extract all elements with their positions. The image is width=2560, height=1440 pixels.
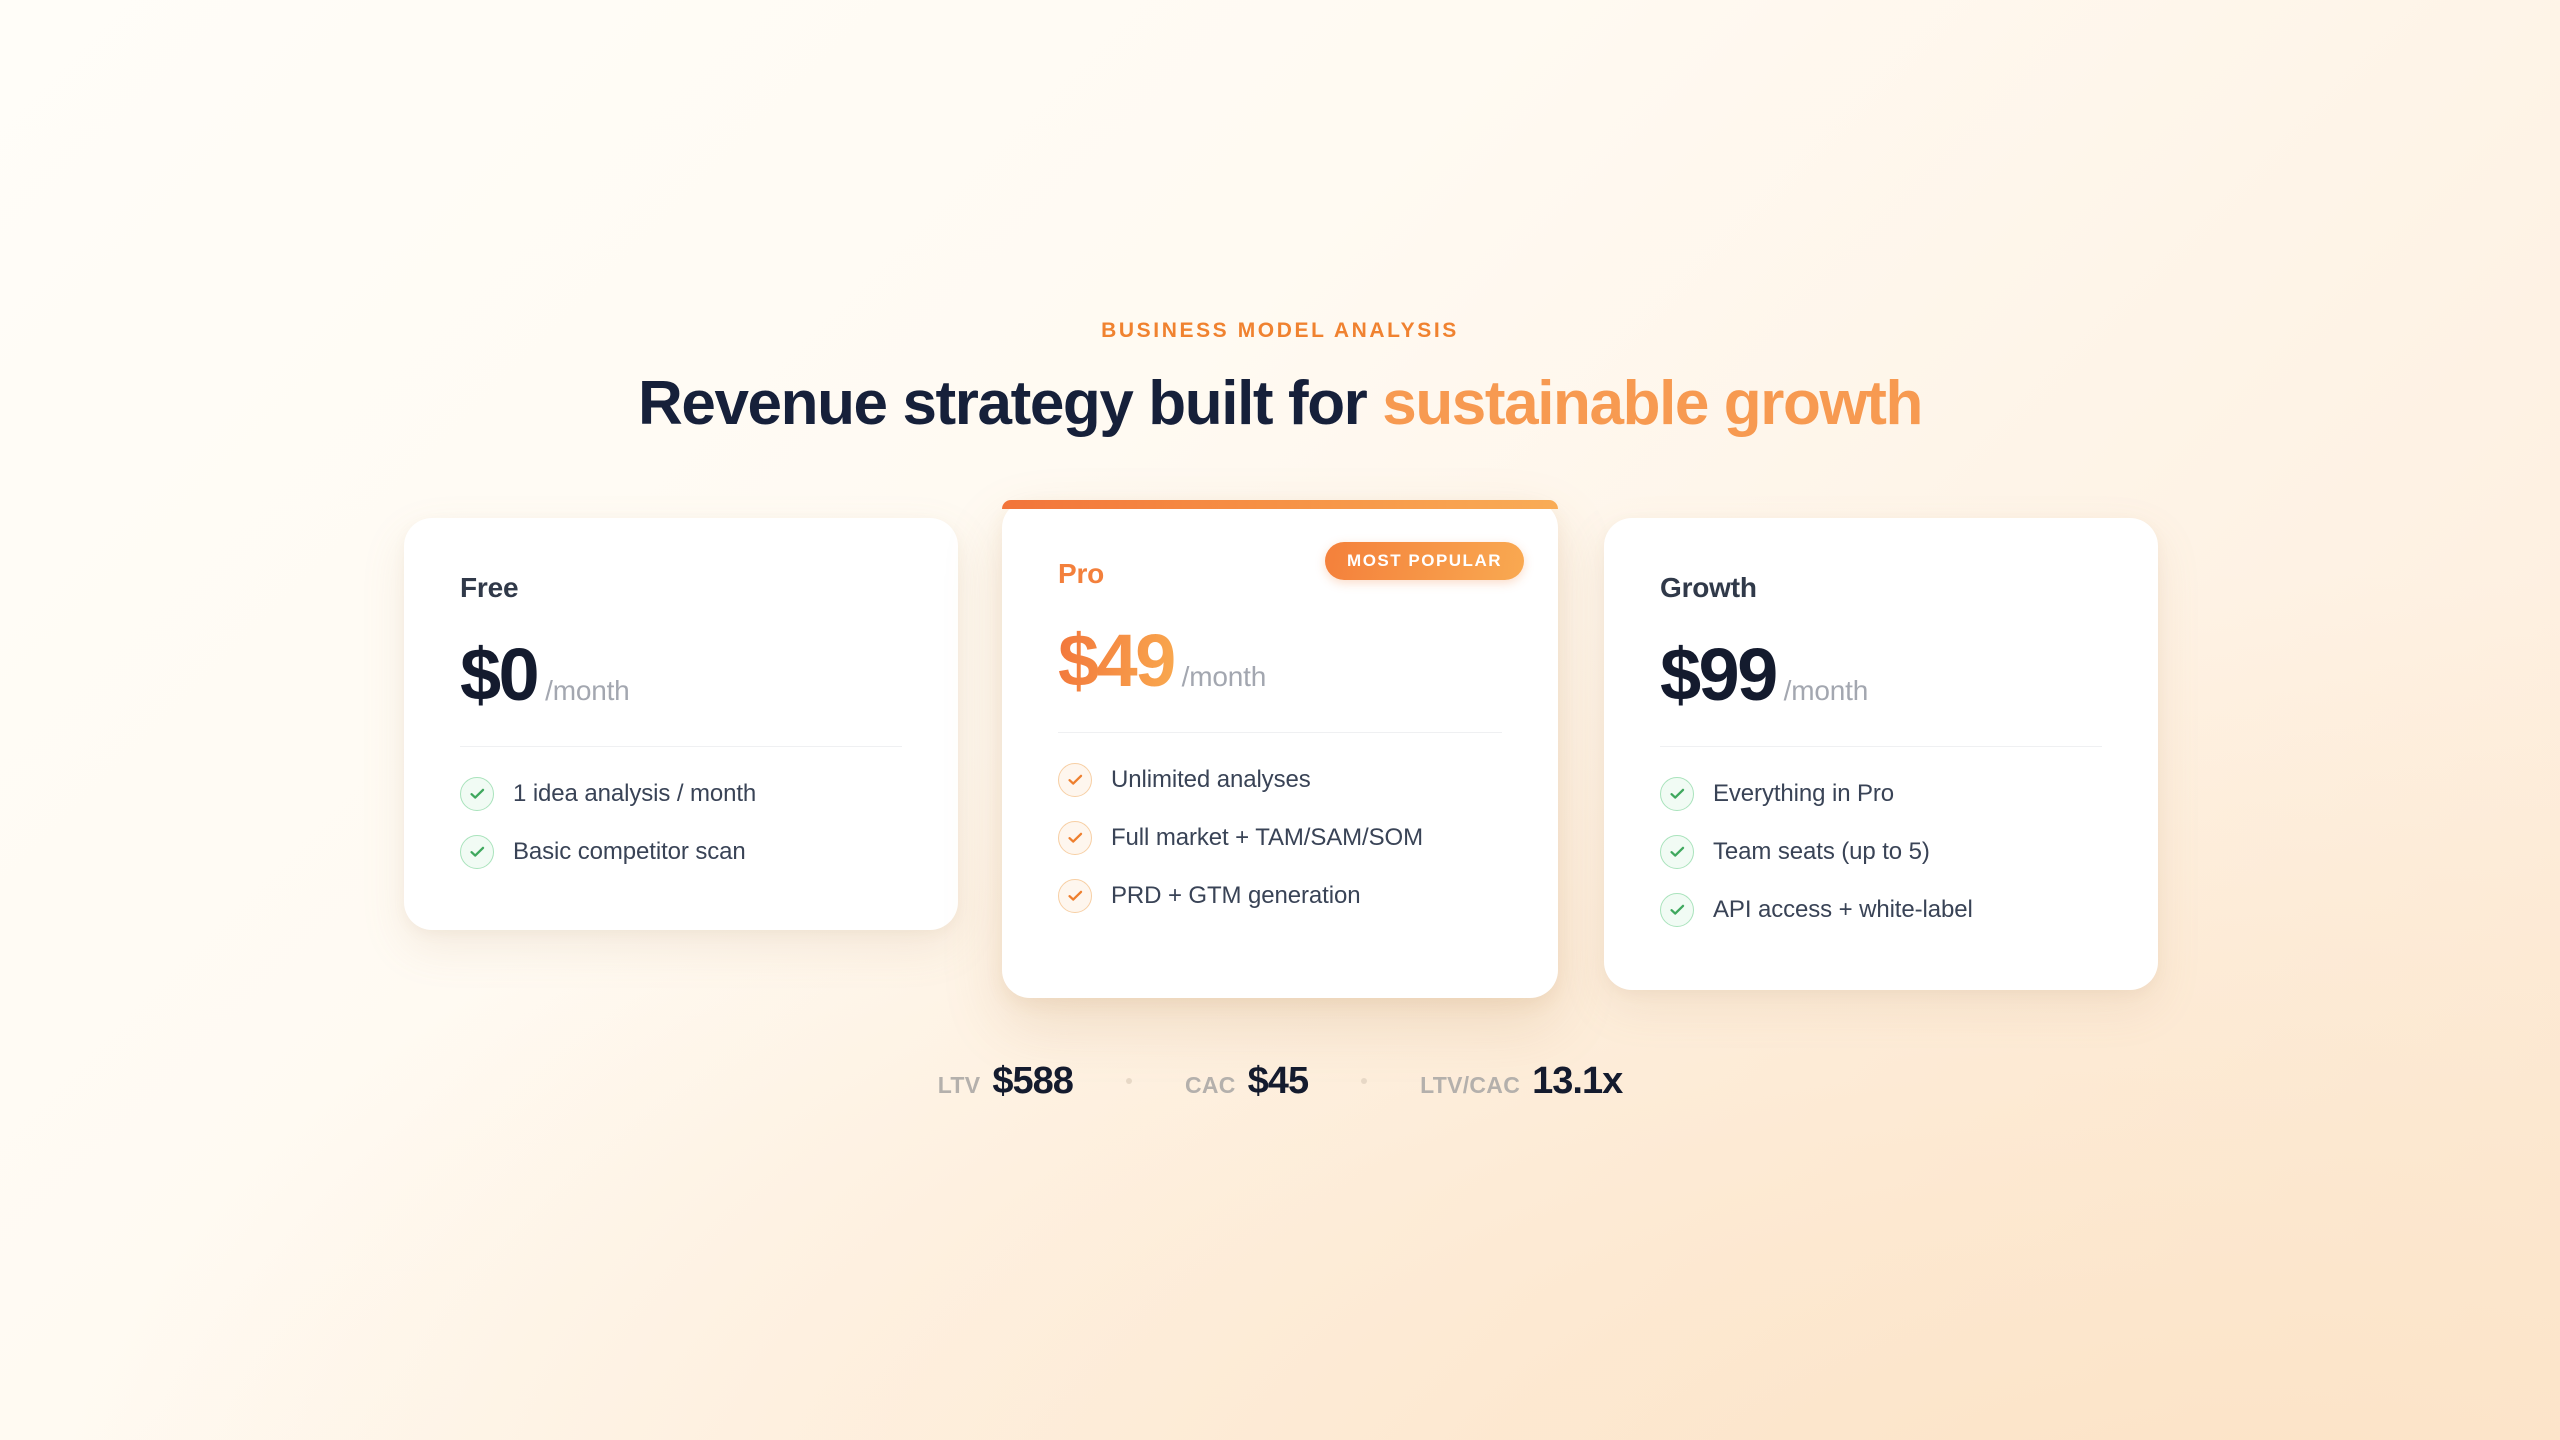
- most-popular-badge: MOST POPULAR: [1325, 542, 1524, 580]
- feature-label: Team seats (up to 5): [1713, 838, 1930, 867]
- section-eyebrow: BUSINESS MODEL ANALYSIS: [0, 320, 2560, 341]
- pricing-card-pro[interactable]: MOST POPULAR Pro $49 /month Unlimited an…: [1002, 500, 1558, 998]
- check-circle-icon: [1660, 835, 1694, 869]
- unit-economics-row: LTV $588 CAC $45 LTV/CAC 13.1x: [0, 1062, 2560, 1100]
- plan-period: /month: [1784, 677, 1868, 705]
- plan-price: $49: [1058, 624, 1174, 698]
- metric-value: $588: [992, 1062, 1073, 1100]
- feature-label: Unlimited analyses: [1111, 766, 1311, 795]
- price-row: $0 /month: [460, 638, 902, 712]
- price-row: $49 /month: [1058, 624, 1502, 698]
- feature-item: Full market + TAM/SAM/SOM: [1058, 821, 1502, 855]
- feature-item: Everything in Pro: [1660, 777, 2102, 811]
- plan-period: /month: [1182, 663, 1266, 691]
- check-circle-icon: [1660, 777, 1694, 811]
- metric-cac: CAC $45: [1185, 1062, 1308, 1100]
- page-title-accent: sustainable growth: [1382, 369, 1922, 438]
- page-title-lead: Revenue strategy built for: [638, 369, 1382, 438]
- feature-list: Unlimited analyses Full market + TAM/SAM…: [1058, 763, 1502, 913]
- feature-label: 1 idea analysis / month: [513, 780, 756, 809]
- metric-value: 13.1x: [1532, 1062, 1622, 1100]
- check-circle-icon: [1660, 893, 1694, 927]
- card-divider: [1660, 746, 2102, 747]
- feature-item: 1 idea analysis / month: [460, 777, 902, 811]
- check-circle-icon: [1058, 879, 1092, 913]
- feature-item: PRD + GTM generation: [1058, 879, 1502, 913]
- check-circle-icon: [460, 835, 494, 869]
- feature-label: PRD + GTM generation: [1111, 882, 1360, 911]
- metric-value: $45: [1248, 1062, 1308, 1100]
- feature-item: Team seats (up to 5): [1660, 835, 2102, 869]
- pricing-cards: Free $0 /month 1 idea analysis / month: [0, 500, 2560, 1020]
- page-title: Revenue strategy built for sustainable g…: [0, 371, 2560, 437]
- feature-item: Basic competitor scan: [460, 835, 902, 869]
- featured-accent-bar: [1002, 500, 1558, 509]
- metric-label: LTV/CAC: [1420, 1074, 1520, 1097]
- check-circle-icon: [460, 777, 494, 811]
- metric-label: CAC: [1185, 1074, 1236, 1097]
- pricing-card-growth[interactable]: Growth $99 /month Everything in Pro Tea: [1604, 518, 2158, 990]
- feature-label: Everything in Pro: [1713, 780, 1894, 809]
- dot-separator-icon: [1361, 1078, 1367, 1084]
- page-header: BUSINESS MODEL ANALYSIS Revenue strategy…: [0, 320, 2560, 478]
- check-circle-icon: [1058, 763, 1092, 797]
- card-divider: [460, 746, 902, 747]
- feature-item: API access + white-label: [1660, 893, 2102, 927]
- plan-name: Free: [460, 574, 902, 602]
- check-circle-icon: [1058, 821, 1092, 855]
- plan-price: $99: [1660, 638, 1776, 712]
- plan-price: $0: [460, 638, 537, 712]
- feature-list: Everything in Pro Team seats (up to 5) A…: [1660, 777, 2102, 927]
- metric-ltv-cac-ratio: LTV/CAC 13.1x: [1420, 1062, 1622, 1100]
- metric-ltv: LTV $588: [938, 1062, 1073, 1100]
- feature-list: 1 idea analysis / month Basic competitor…: [460, 777, 902, 869]
- feature-label: API access + white-label: [1713, 896, 1973, 925]
- card-divider: [1058, 732, 1502, 733]
- price-row: $99 /month: [1660, 638, 2102, 712]
- metric-label: LTV: [938, 1074, 981, 1097]
- plan-name: Growth: [1660, 574, 2102, 602]
- plan-period: /month: [545, 677, 629, 705]
- dot-separator-icon: [1126, 1078, 1132, 1084]
- feature-label: Full market + TAM/SAM/SOM: [1111, 824, 1423, 853]
- pricing-card-free[interactable]: Free $0 /month 1 idea analysis / month: [404, 518, 958, 930]
- feature-label: Basic competitor scan: [513, 838, 746, 867]
- feature-item: Unlimited analyses: [1058, 763, 1502, 797]
- pricing-page: BUSINESS MODEL ANALYSIS Revenue strategy…: [0, 0, 2560, 1440]
